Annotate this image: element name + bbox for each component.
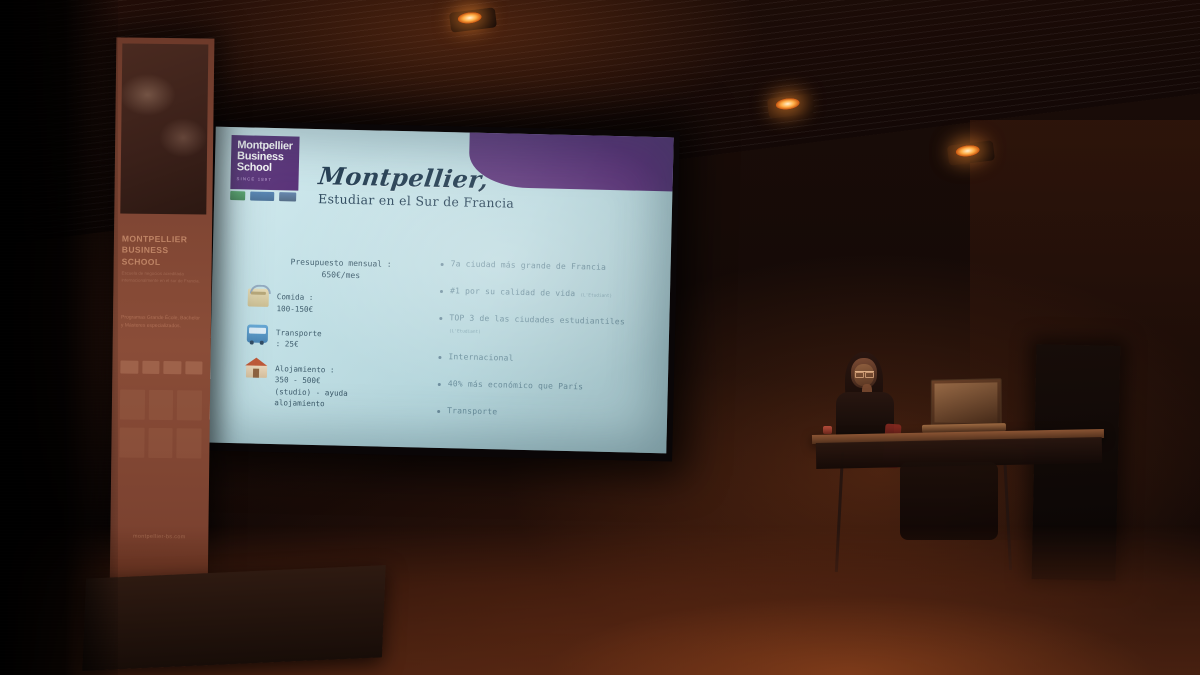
housing-label: Alojamiento : — [275, 364, 335, 374]
stage-riser — [82, 565, 386, 671]
banner-grid-cell — [177, 390, 202, 420]
bullet-text: #1 por su calidad de vida (L'Etudiant) — [450, 285, 612, 302]
banner-title: MONTPELLIER BUSINESS SCHOOL — [122, 234, 204, 269]
slide-title: Montpellier, — [317, 161, 491, 194]
banner-grid-cell — [177, 428, 202, 458]
accreditation-badge-1-icon — [230, 191, 245, 200]
bullet-dot-icon — [438, 383, 441, 386]
bullet-item: Internacional — [438, 351, 656, 369]
laptop-screen — [931, 378, 1002, 428]
bullet-item: 7a ciudad más grande de Francia — [440, 258, 658, 276]
auditorium-scene: Montpellier Business School SINCE 1897 M… — [0, 0, 1200, 675]
floor-light-pool — [420, 535, 1200, 675]
banner-grid-cell — [119, 427, 144, 457]
accreditation-badges — [230, 191, 306, 202]
banner-logo-icon — [163, 361, 181, 374]
housing-value: 350 - 500€ — [275, 375, 321, 385]
housing-value-3: alojamiento — [274, 398, 324, 408]
budget-heading: Presupuesto mensual : 650€/mes — [248, 255, 433, 283]
banner-grid-cell — [148, 428, 173, 458]
banner-grid-cell — [148, 390, 173, 420]
banner-logo-icon — [185, 361, 203, 374]
banner-logo-icon — [120, 360, 138, 373]
banner-info-grid — [119, 389, 202, 458]
accreditation-badge-2-icon — [250, 191, 274, 201]
food-value: 100-150€ — [276, 304, 313, 314]
food-basket-icon — [248, 289, 269, 307]
dark-left-edge — [0, 0, 118, 675]
banner-paragraph: Escuela de negocios acreditada internaci… — [121, 270, 203, 286]
bullet-item: Transporte — [437, 405, 655, 423]
budget-item-transport: Transporte : 25€ — [247, 324, 433, 353]
budget-amount: 650€/mes — [321, 270, 360, 280]
banner-logo-row — [120, 355, 202, 378]
bullet-dot-icon — [439, 317, 442, 320]
bullet-text: Transporte — [447, 405, 497, 419]
bullet-text: TOP 3 de las ciudades estudiantiles (L'E… — [449, 312, 658, 342]
logo-since-text: SINCE 1897 — [237, 176, 293, 182]
budget-heading-text: Presupuesto mensual : — [290, 257, 391, 268]
banner-subtext: Programas Grande École, Bachelor y Máste… — [121, 313, 203, 330]
banner-photo-collage — [120, 43, 208, 214]
bullet-main: TOP 3 de las ciudades estudiantiles — [449, 313, 625, 326]
bullet-dot-icon — [441, 263, 444, 266]
banner-logo-icon — [142, 360, 160, 373]
bullet-text: Internacional — [448, 351, 514, 365]
bus-icon — [247, 324, 268, 342]
bullet-dot-icon — [437, 410, 440, 413]
budget-item-housing-text: Alojamiento : 350 - 500€ (studio) - ayud… — [274, 361, 348, 410]
bullet-column: 7a ciudad más grande de Francia #1 por s… — [437, 258, 659, 437]
glasses-icon — [855, 371, 874, 377]
bullet-item: TOP 3 de las ciudades estudiantiles (L'E… — [439, 312, 658, 343]
slide-subtitle: Estudiar en el Sur de Francia — [318, 191, 514, 211]
budget-item-housing: Alojamiento : 350 - 500€ (studio) - ayud… — [245, 360, 431, 412]
projection-screen-frame: Montpellier Business School SINCE 1897 M… — [202, 121, 680, 462]
budget-item-transport-text: Transporte : 25€ — [276, 325, 322, 351]
rollup-banner: MONTPELLIER BUSINESS SCHOOL Escuela de n… — [110, 37, 215, 598]
bullet-source: (L'Etudiant) — [580, 293, 612, 299]
bullet-source: (L'Etudiant) — [449, 330, 481, 336]
bullet-text: 7a ciudad más grande de Francia — [450, 258, 606, 274]
budget-column: Presupuesto mensual : 650€/mes Comida : … — [245, 255, 434, 423]
transport-value: : 25€ — [276, 339, 299, 349]
food-label: Comida : — [277, 292, 314, 302]
budget-item-food: Comida : 100-150€ — [247, 289, 433, 318]
budget-item-food-text: Comida : 100-150€ — [276, 289, 313, 315]
bullet-main: #1 por su calidad de vida — [450, 286, 576, 298]
projected-slide: Montpellier Business School SINCE 1897 M… — [208, 127, 673, 454]
purple-swoosh-band — [468, 129, 673, 192]
housing-value-2: (studio) - ayuda — [274, 387, 347, 398]
transport-label: Transporte — [276, 328, 322, 338]
accreditation-badge-3-icon — [279, 192, 296, 201]
bullet-dot-icon — [438, 356, 441, 359]
mug — [823, 426, 832, 434]
house-icon — [246, 364, 267, 377]
bullet-item: 40% más económico que París — [438, 378, 656, 396]
banner-grid-cell — [120, 389, 145, 419]
bullet-text: 40% más económico que París — [448, 378, 584, 394]
bullet-dot-icon — [440, 290, 443, 293]
mbs-logo: Montpellier Business School SINCE 1897 — [230, 135, 299, 191]
logo-line-3: School — [237, 162, 293, 174]
bullet-item: #1 por su calidad de vida (L'Etudiant) — [440, 285, 658, 303]
